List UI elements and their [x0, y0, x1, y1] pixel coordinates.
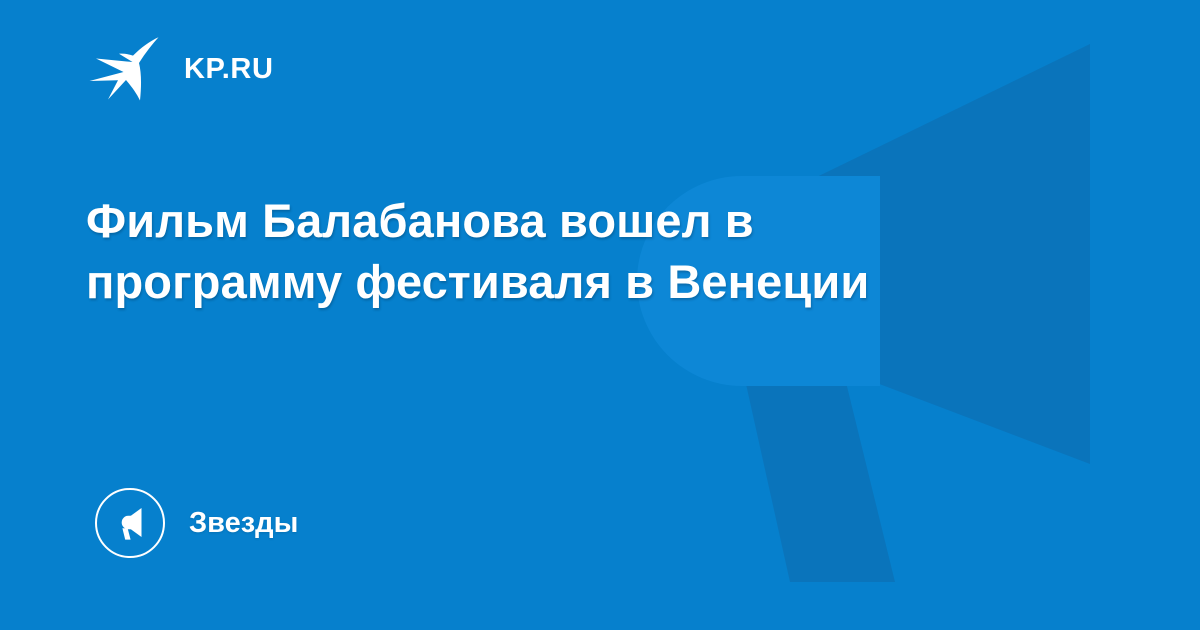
brand-logo[interactable]: KP.RU [88, 34, 274, 104]
category-label: Звезды [189, 509, 298, 538]
megaphone-handle-shape [742, 366, 895, 582]
page-title: Фильм Балабанова вошел в программу фести… [86, 190, 886, 312]
category-icon-circle [95, 488, 165, 558]
swallow-bird-icon [88, 36, 162, 102]
category-badge[interactable]: Звезды [95, 488, 298, 558]
brand-name-label: KP.RU [184, 55, 274, 84]
social-share-card: KP.RU Фильм Балабанова вошел в программу… [0, 0, 1200, 630]
megaphone-icon [111, 504, 149, 542]
